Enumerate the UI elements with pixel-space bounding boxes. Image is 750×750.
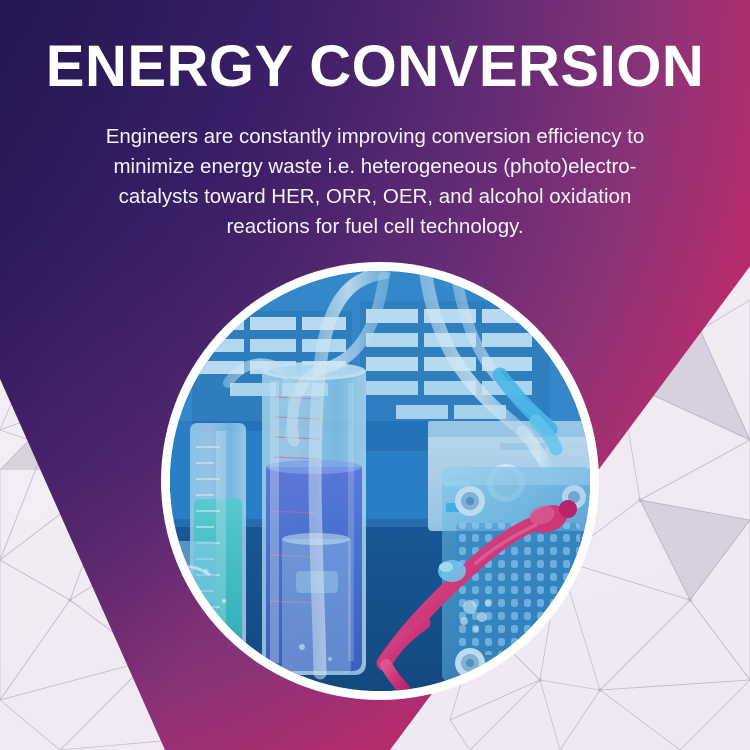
page-title: ENERGY CONVERSION [0,38,750,96]
lab-photo-illustration [170,271,590,691]
body-line: catalysts toward HER, ORR, OER, and alco… [42,182,708,212]
body-paragraph: Engineers are constantly improving conve… [42,122,708,242]
circular-photo-frame [161,262,599,700]
body-line: minimize energy waste i.e. heterogeneous… [42,152,708,182]
lab-photo [170,271,590,691]
poster-canvas: ENERGY CONVERSION Engineers are constant… [0,0,750,750]
body-line: reactions for fuel cell technology. [42,212,708,242]
body-line: Engineers are constantly improving conve… [42,122,708,152]
